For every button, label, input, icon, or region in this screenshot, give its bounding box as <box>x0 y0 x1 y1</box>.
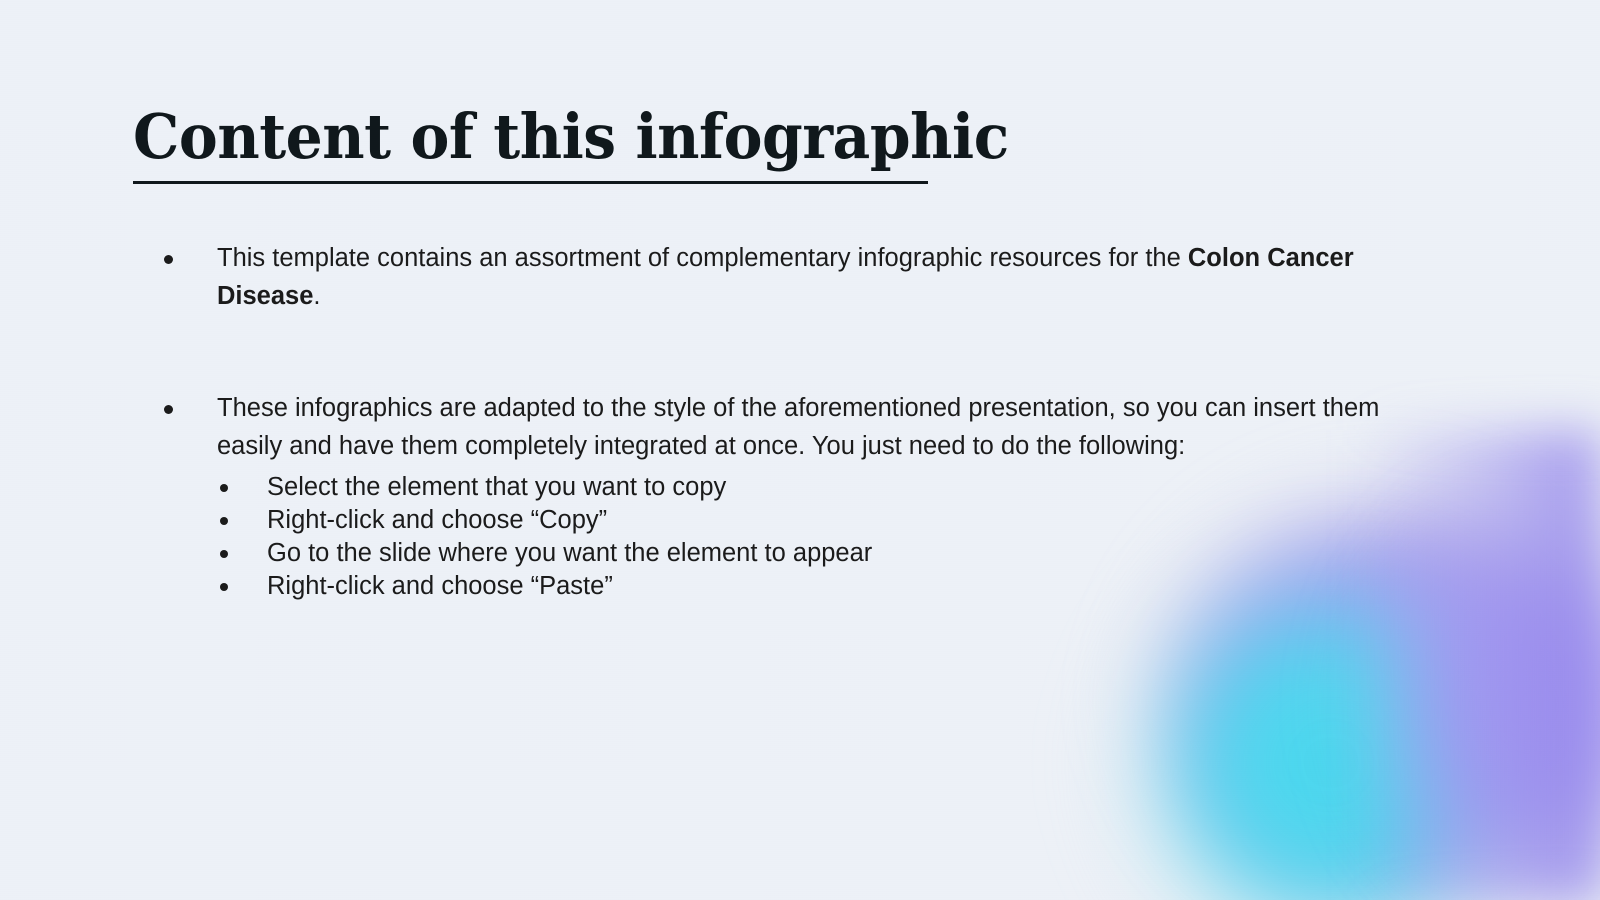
sub-bullet-text-2: Right-click and choose “Copy” <box>267 506 607 534</box>
slide-canvas: Content of this infographic This templat… <box>0 0 1600 900</box>
sub-bullet-text-4: Right-click and choose “Paste” <box>267 572 613 600</box>
list-item: This template contains an assortment of … <box>155 240 1385 315</box>
bullet-marker-icon <box>220 484 228 492</box>
page-title: Content of this infographic <box>133 104 1009 169</box>
title-underline-rule <box>133 181 928 184</box>
bullet-marker-icon <box>164 405 173 414</box>
list-item: These infographics are adapted to the st… <box>155 390 1385 603</box>
bullet-list: This template contains an assortment of … <box>155 240 1385 603</box>
sub-bullet-list: Select the element that you want to copy… <box>217 471 1385 603</box>
sub-list-item: Select the element that you want to copy <box>217 471 1385 504</box>
body-content: This template contains an assortment of … <box>155 240 1385 603</box>
bullet-1-text-before-bold: This template contains an assortment of … <box>217 244 1188 272</box>
bullet-marker-icon <box>220 583 228 591</box>
bullet-marker-icon <box>164 255 173 264</box>
bullet-paragraph-1: This template contains an assortment of … <box>217 240 1385 315</box>
sub-list-item: Go to the slide where you want the eleme… <box>217 537 1385 570</box>
slide-content: Content of this infographic This templat… <box>0 0 1600 900</box>
bullet-1-text-after-bold: . <box>313 282 320 310</box>
bullet-paragraph-2: These infographics are adapted to the st… <box>217 390 1385 465</box>
sub-list-item: Right-click and choose “Copy” <box>217 504 1385 537</box>
sub-bullet-text-3: Go to the slide where you want the eleme… <box>267 539 872 567</box>
sub-list-item: Right-click and choose “Paste” <box>217 570 1385 603</box>
bullet-marker-icon <box>220 517 228 525</box>
bullet-marker-icon <box>220 550 228 558</box>
sub-bullet-text-1: Select the element that you want to copy <box>267 473 726 501</box>
